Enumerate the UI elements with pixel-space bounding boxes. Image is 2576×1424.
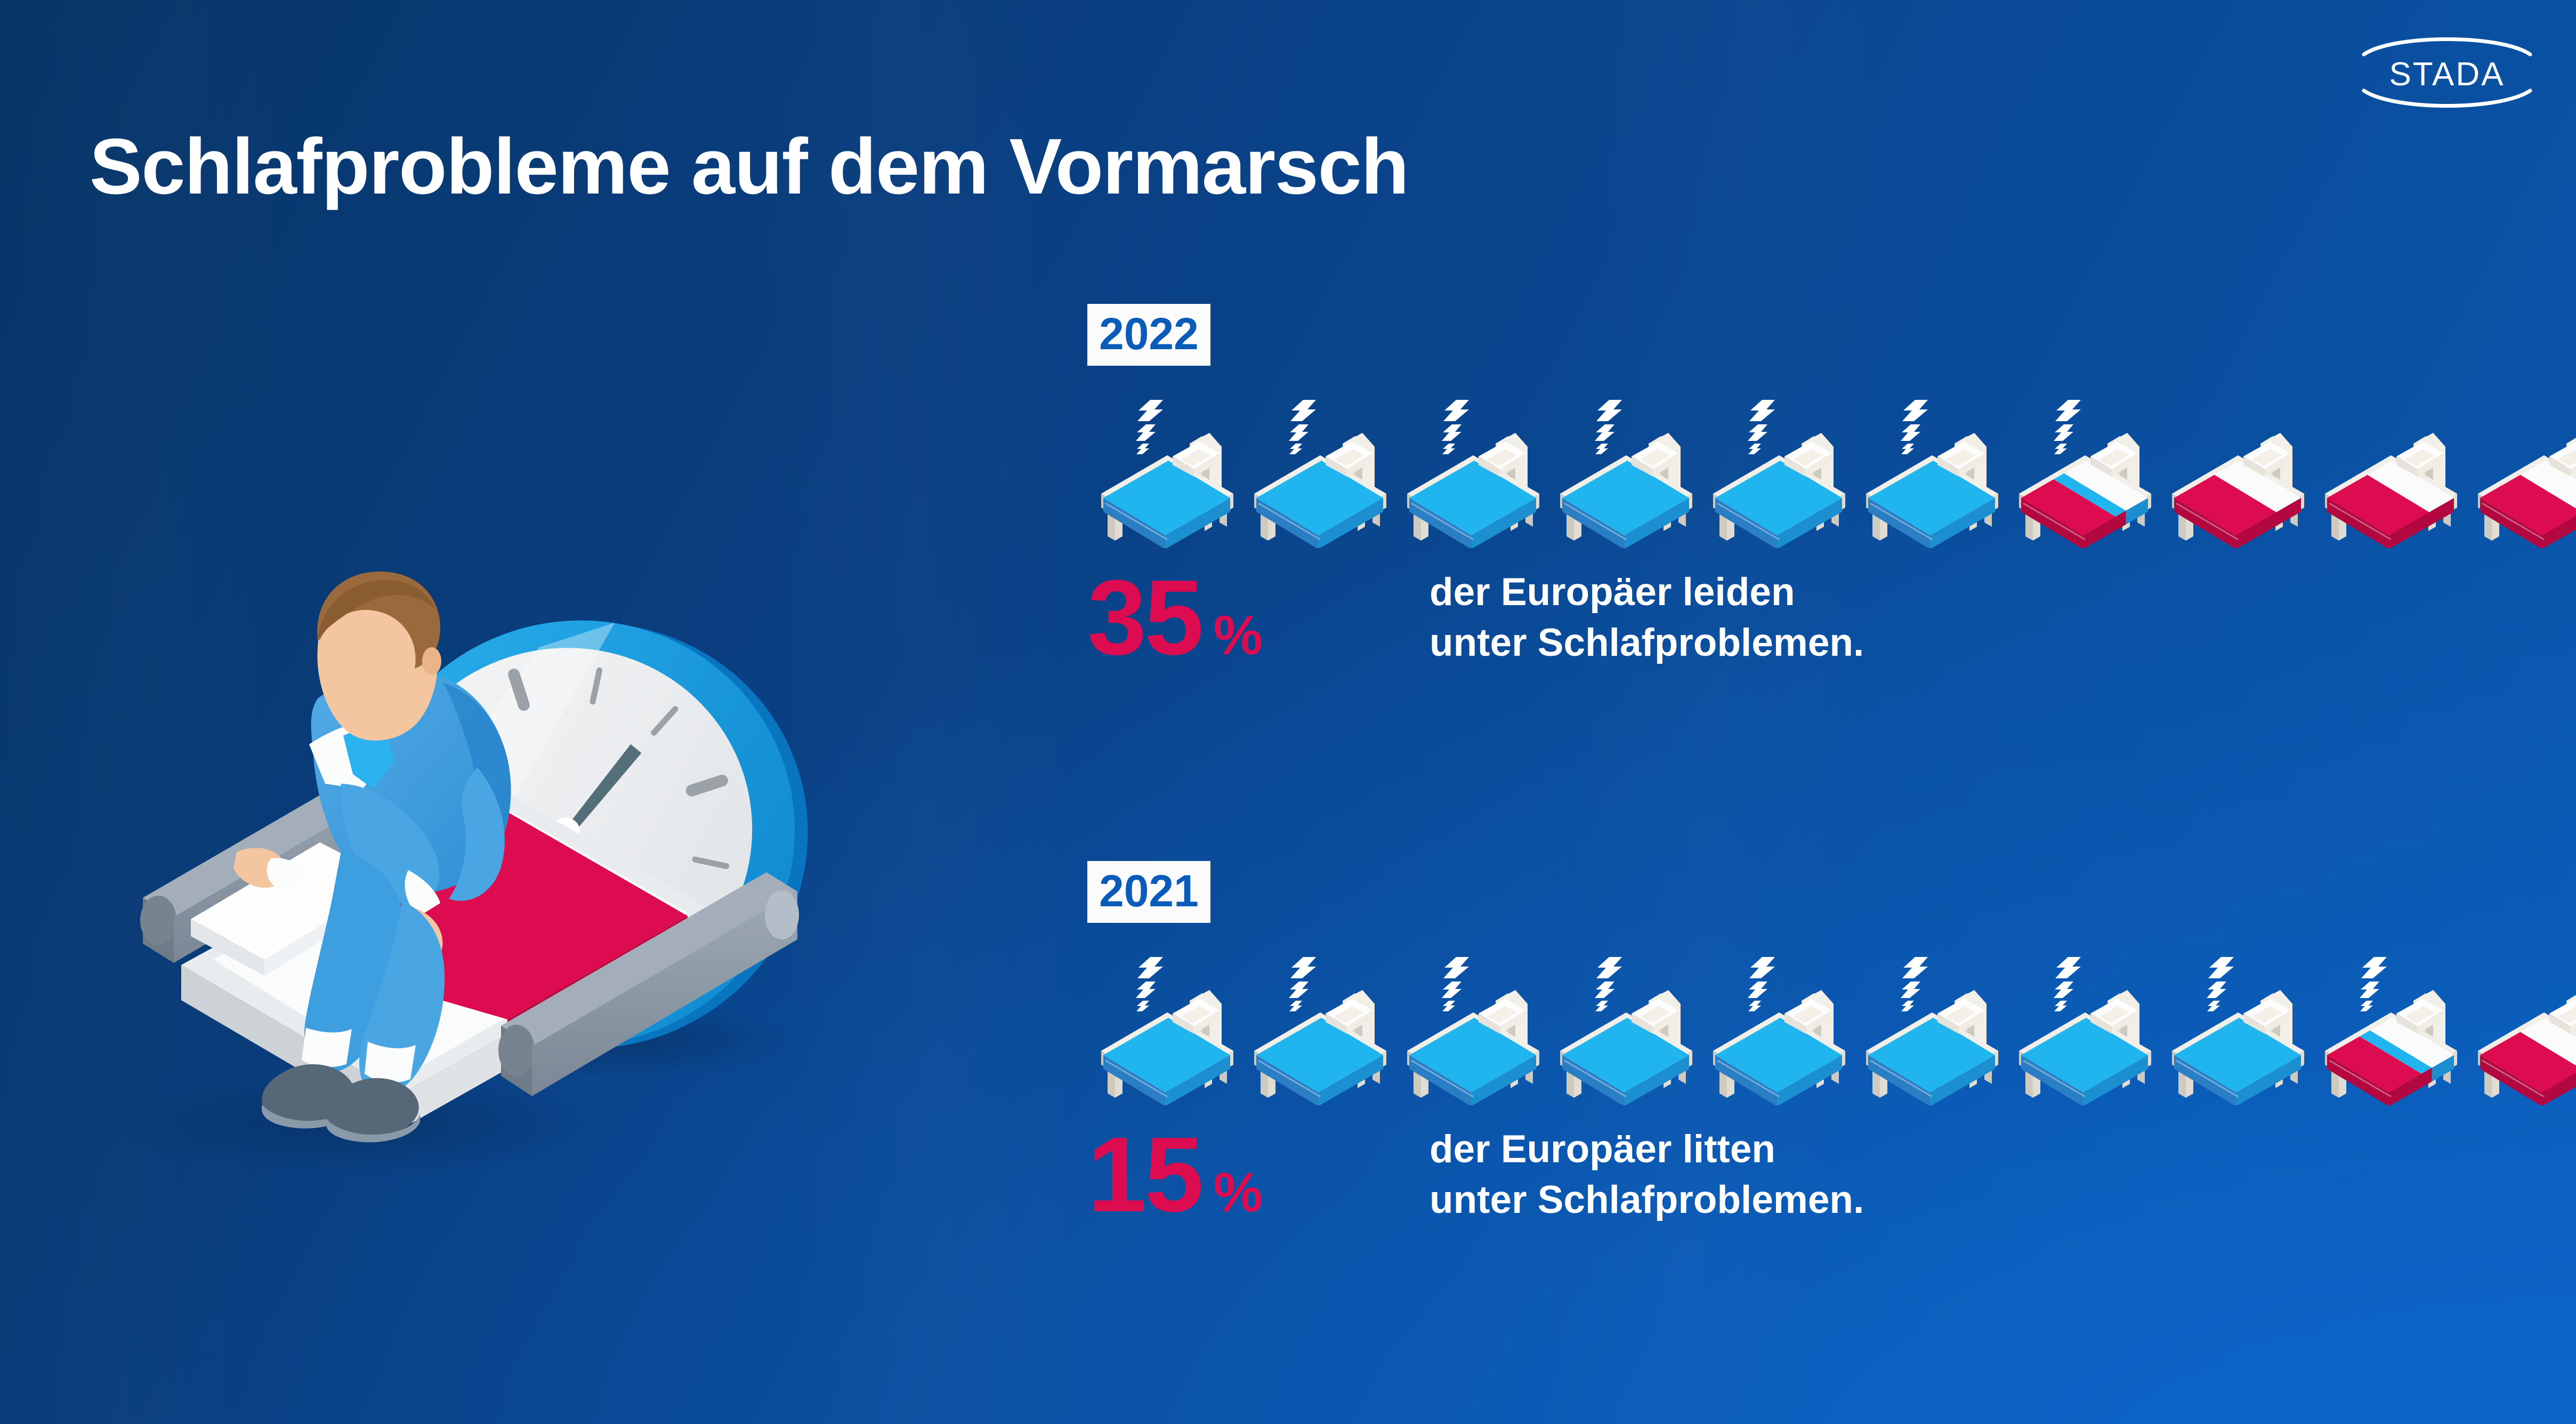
zzz-sleep-icon bbox=[1901, 957, 1928, 1011]
zzz-sleep-icon bbox=[2054, 957, 2081, 1011]
bed-icon bbox=[2311, 951, 2471, 1105]
bed-icon-svg bbox=[1852, 951, 2012, 1105]
zzz-sleep-icon bbox=[1442, 400, 1469, 454]
zzz-sleep-icon bbox=[1901, 400, 1928, 454]
bed-icon bbox=[1087, 951, 1247, 1105]
bed-icon-svg bbox=[1852, 393, 2012, 548]
bed-icon-svg bbox=[1240, 951, 1400, 1105]
bed-pictogram-row-2021 bbox=[1087, 951, 2576, 1105]
infographic-canvas: Schlafprobleme auf dem Vormarsch STADA bbox=[0, 0, 2576, 1424]
percent-value-2021: 15 % bbox=[1087, 1128, 1428, 1222]
stada-logo: STADA bbox=[2356, 16, 2538, 128]
zzz-sleep-icon bbox=[2207, 957, 2234, 1011]
bed-icon-svg bbox=[1087, 393, 1247, 548]
bed-icon-svg bbox=[2311, 393, 2471, 548]
bed-icon bbox=[1546, 951, 1706, 1105]
stat-line-2022: 35 % der Europäer leiden unter Schlafpro… bbox=[1087, 567, 2576, 669]
bed-icon-svg bbox=[2158, 951, 2318, 1105]
zzz-sleep-icon bbox=[2360, 957, 2387, 1011]
zzz-sleep-icon bbox=[1595, 957, 1622, 1011]
bed-icon-svg bbox=[2464, 393, 2576, 548]
bed-icon bbox=[2005, 393, 2165, 548]
bed-icon-svg bbox=[2005, 951, 2165, 1105]
illustration-svg bbox=[21, 363, 874, 1205]
bed-icon bbox=[1699, 951, 1859, 1105]
percent-value-2022: 35 % bbox=[1087, 571, 1428, 665]
page-title: Schlafprobleme auf dem Vormarsch bbox=[90, 127, 1408, 206]
bed-icon-svg bbox=[1087, 951, 1247, 1105]
zzz-sleep-icon bbox=[1748, 957, 1775, 1011]
bed-icon bbox=[1852, 951, 2012, 1105]
bed-icon bbox=[2464, 393, 2576, 548]
percent-sign: % bbox=[1213, 608, 1262, 663]
person-pant-cuff-right bbox=[365, 1042, 416, 1082]
zzz-sleep-icon bbox=[1289, 957, 1316, 1011]
bed-icon-svg bbox=[1699, 393, 1859, 548]
bed-icon-svg bbox=[2464, 951, 2576, 1105]
stada-wordmark: STADA bbox=[2389, 56, 2505, 93]
zzz-sleep-icon bbox=[1442, 957, 1469, 1011]
bed-icon bbox=[1852, 393, 2012, 548]
zzz-sleep-icon bbox=[1289, 400, 1316, 454]
bed-icon-svg bbox=[2158, 393, 2318, 548]
percent-number: 15 bbox=[1087, 1128, 1201, 1222]
bed-icon-svg bbox=[1546, 393, 1706, 548]
bed-icon bbox=[1240, 951, 1400, 1105]
bed-icon bbox=[1393, 951, 1553, 1105]
stada-lens-logo-icon: STADA bbox=[2356, 16, 2538, 128]
bed-icon-svg bbox=[1393, 393, 1553, 548]
stat-block-2022: 2022 bbox=[1087, 304, 2576, 669]
bed-icon bbox=[1699, 393, 1859, 548]
stat-caption-2022: der Europäer leiden unter Schlafprobleme… bbox=[1430, 567, 1864, 669]
zzz-sleep-icon bbox=[2054, 400, 2081, 454]
bed-icon-svg bbox=[2005, 393, 2165, 548]
bed-icon bbox=[1087, 393, 1247, 548]
bed-icon bbox=[2464, 951, 2576, 1105]
percent-sign: % bbox=[1213, 1165, 1262, 1220]
zzz-sleep-icon bbox=[1748, 400, 1775, 454]
bed-icon bbox=[2158, 951, 2318, 1105]
bed-icon bbox=[1240, 393, 1400, 548]
stat-caption-2021: der Europäer litten unter Schlafprobleme… bbox=[1430, 1124, 1864, 1226]
bed-icon-svg bbox=[2311, 951, 2471, 1105]
bed-icon-svg bbox=[1699, 951, 1859, 1105]
year-badge-2022: 2022 bbox=[1087, 304, 1210, 366]
stat-block-2021: 2021 bbox=[1087, 861, 2576, 1226]
person-head bbox=[317, 572, 441, 741]
bed-icon bbox=[1393, 393, 1553, 548]
bed-icon bbox=[2311, 393, 2471, 548]
bed-icon-svg bbox=[1546, 951, 1706, 1105]
zzz-sleep-icon bbox=[1136, 957, 1163, 1011]
bed-icon-svg bbox=[1240, 393, 1400, 548]
bed-icon bbox=[1546, 393, 1706, 548]
person-pant-cuff-left bbox=[302, 1028, 352, 1067]
zzz-sleep-icon bbox=[1136, 400, 1163, 454]
stat-line-2021: 15 % der Europäer litten unter Schlafpro… bbox=[1087, 1124, 2576, 1226]
percent-number: 35 bbox=[1087, 571, 1201, 665]
zzz-sleep-icon bbox=[1595, 400, 1622, 454]
bed-icon-svg bbox=[1393, 951, 1553, 1105]
bed-icon bbox=[2158, 393, 2318, 548]
tired-man-illustration bbox=[21, 363, 874, 1205]
year-badge-2021: 2021 bbox=[1087, 861, 1210, 923]
bed-icon bbox=[2005, 951, 2165, 1105]
bed-pictogram-row-2022 bbox=[1087, 393, 2576, 548]
